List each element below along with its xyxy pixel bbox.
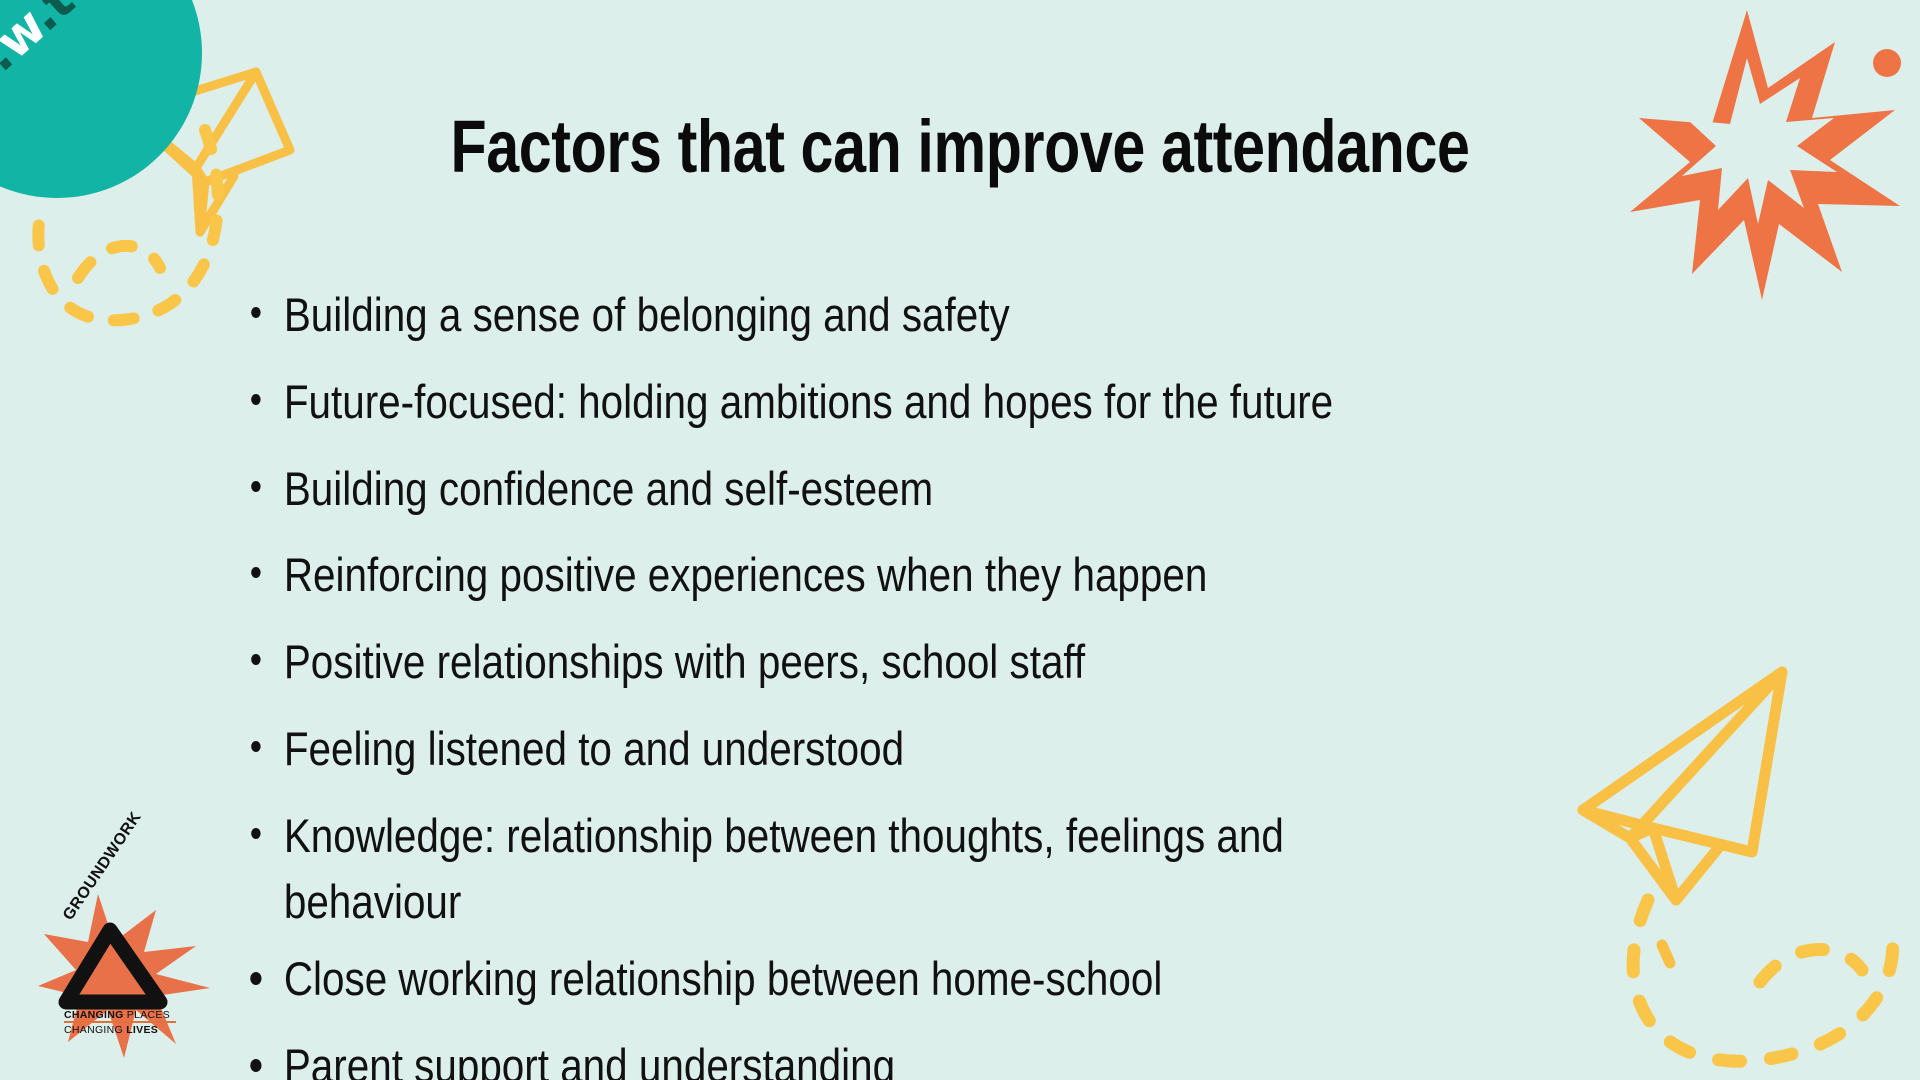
ewt-logo-text: e.w.t bbox=[0, 0, 82, 102]
bullet-text: Reinforcing positive experiences when th… bbox=[284, 548, 1208, 601]
bullet-list: Building a sense of belonging and safety… bbox=[246, 282, 1666, 1080]
groundwork-tagline: CHANGING PLACES CHANGING LIVES bbox=[64, 1008, 170, 1038]
ewt-brand-logo: e.w.t bbox=[0, 0, 202, 198]
slide-title: Factors that can improve attendance bbox=[192, 108, 1728, 186]
list-item: Close working relationship between home-… bbox=[246, 946, 1467, 1012]
dashed-trail-bottom-right-icon bbox=[1633, 900, 1892, 1061]
list-item: Future-focused: holding ambitions and ho… bbox=[246, 369, 1467, 435]
list-item: Positive relationships with peers, schoo… bbox=[246, 629, 1467, 695]
bullet-text: Positive relationships with peers, schoo… bbox=[284, 635, 1085, 688]
slide-canvas: e.w.t Factors that can improve attendanc… bbox=[0, 0, 1920, 1080]
tagline-line2-bold: LIVES bbox=[123, 1024, 158, 1036]
list-item: Parent support and understanding bbox=[246, 1033, 1467, 1080]
list-item: Knowledge: relationship between thoughts… bbox=[246, 803, 1467, 935]
list-item: Building a sense of belonging and safety bbox=[246, 282, 1467, 348]
starburst-dot-icon bbox=[1873, 49, 1901, 77]
tagline-line2-light: CHANGING bbox=[64, 1024, 123, 1036]
groundwork-tagline-rule bbox=[64, 1021, 176, 1023]
bullet-text: Parent support and understanding bbox=[284, 1039, 895, 1080]
bullet-text: Building a sense of belonging and safety bbox=[284, 288, 1010, 341]
bullet-text: Feeling listened to and understood bbox=[284, 722, 904, 775]
list-item: Feeling listened to and understood bbox=[246, 716, 1467, 782]
bullet-text: Building confidence and self-esteem bbox=[284, 462, 933, 515]
bullet-text: Close working relationship between home-… bbox=[284, 952, 1162, 1005]
bullet-text: Future-focused: holding ambitions and ho… bbox=[284, 375, 1333, 428]
bullet-text: Knowledge: relationship between thoughts… bbox=[284, 809, 1284, 928]
tagline-line1-bold: CHANGING bbox=[64, 1009, 124, 1021]
tagline-line1-light: PLACES bbox=[124, 1009, 170, 1021]
groundwork-logo: GROUNDWORK CHANGING PLACES CHANGING LIVE… bbox=[38, 890, 218, 1060]
list-item: Building confidence and self-esteem bbox=[246, 456, 1467, 522]
list-item: Reinforcing positive experiences when th… bbox=[246, 542, 1467, 608]
